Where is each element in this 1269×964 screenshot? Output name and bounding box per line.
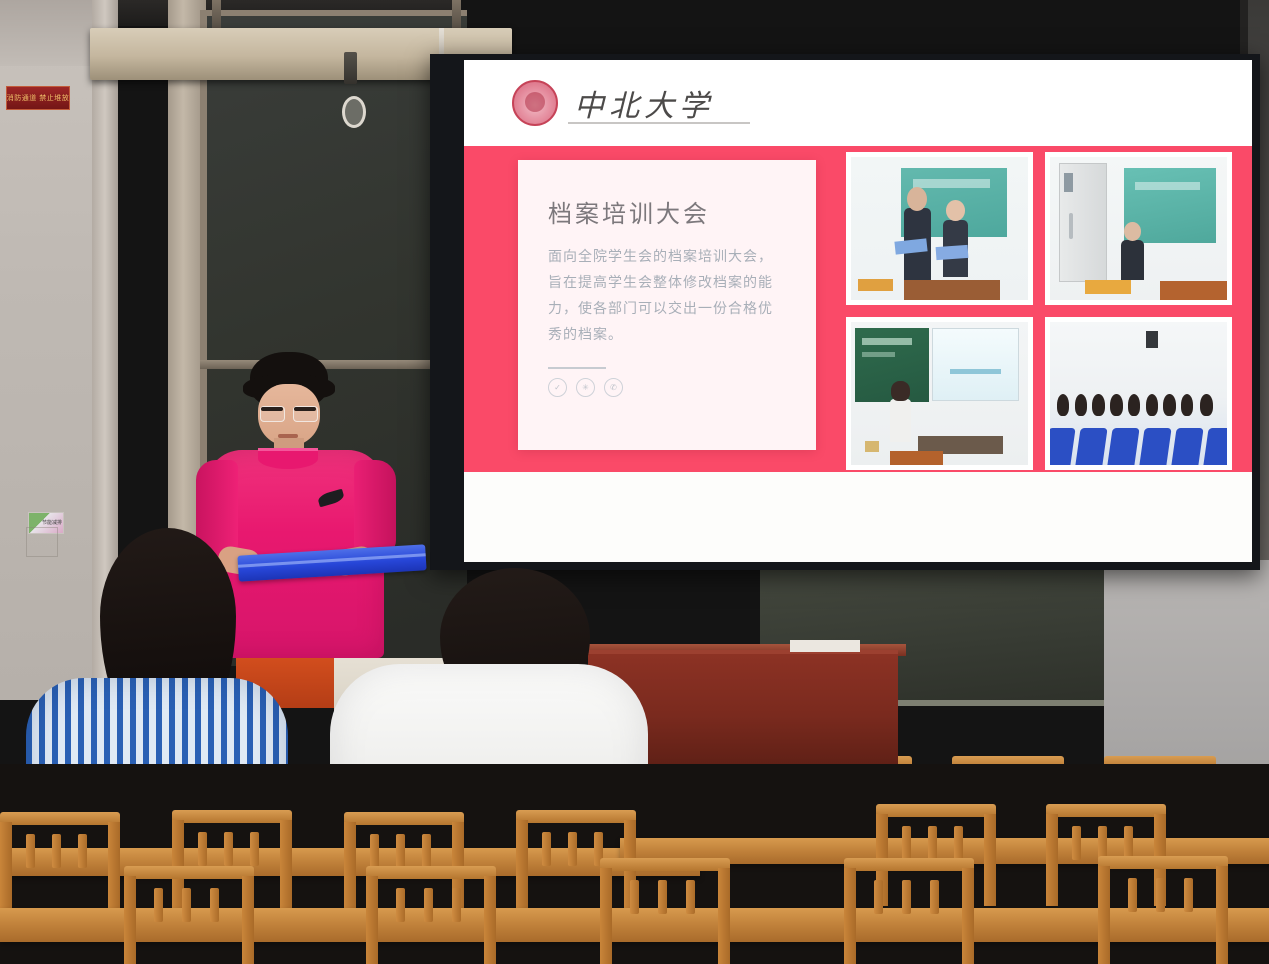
presenter-glasses (260, 406, 318, 421)
photo3-board-text-line1 (862, 338, 913, 345)
weibo-icon: ✳ (576, 378, 595, 397)
wall-sign-red-label: 消防通道 禁止堆放 (7, 93, 69, 103)
social-icon-row: ✓ ✳ ✆ (548, 378, 786, 397)
photo-speaker-at-desk (1045, 152, 1232, 305)
photo1-folder-b (936, 245, 969, 260)
lectern-papers (790, 640, 860, 652)
photo2-red-desk (1160, 281, 1227, 300)
left-wall-upper (0, 0, 92, 66)
screen-pull-loop[interactable] (342, 96, 366, 128)
photo3-podium (890, 451, 943, 465)
photo-two-presenters (846, 152, 1033, 305)
chair-mid-1 (0, 812, 120, 904)
university-name: 中北大学 (574, 81, 714, 125)
projection-screen: 中北大学 档案培训大会 面向全院学生会的档案培训大会，旨在提高学生会整体修改档案… (430, 54, 1260, 570)
photo2-person (1121, 240, 1144, 280)
chair-front-5 (1098, 856, 1228, 964)
qq-icon: ✆ (604, 378, 623, 397)
slide-body-text: 面向全院学生会的档案培训大会，旨在提高学生会整体修改档案的能力，使各部门可以交出… (548, 245, 786, 349)
photo-audience (1045, 317, 1232, 470)
photo4-wall-speaker (1146, 331, 1158, 348)
wechat-icon: ✓ (548, 378, 567, 397)
beam-bracket-left (212, 0, 221, 30)
card-divider (548, 367, 606, 369)
photo1-desk (904, 280, 1000, 300)
photo2-yellow-desk (1085, 280, 1131, 294)
photo3-projection-screen (932, 328, 1019, 402)
slide-text-card: 档案培训大会 面向全院学生会的档案培训大会，旨在提高学生会整体修改档案的能力，使… (518, 160, 816, 450)
photo3-person (890, 399, 911, 442)
presenter-collar (258, 448, 318, 469)
slide-canvas: 中北大学 档案培训大会 面向全院学生会的档案培训大会，旨在提高学生会整体修改档案… (464, 60, 1252, 562)
photo2-door-handle (1069, 213, 1073, 239)
photo4-blue-seats (1050, 405, 1227, 465)
chair-front-2 (366, 866, 496, 964)
photo2-door-window (1064, 173, 1073, 192)
presenter-sleeve-right (354, 460, 396, 558)
photo2-door (1059, 163, 1107, 282)
photo3-board-text-line2 (862, 352, 895, 357)
logo-underline (568, 122, 750, 124)
screen-pull-clip[interactable] (344, 52, 357, 84)
beam-bracket-right (452, 0, 461, 30)
chair-front-1 (124, 866, 254, 964)
university-crest-icon (512, 80, 558, 126)
slide-photo-grid (846, 152, 1232, 470)
classroom-photo-scene: 消防通道 禁止堆放 节能减排 中北大学 档案培训大会 面向全院学生会的档案培训大… (0, 0, 1269, 964)
wall-sign-red: 消防通道 禁止堆放 (6, 86, 70, 110)
photo-lecture-board (846, 317, 1033, 470)
chair-front-3 (600, 858, 730, 964)
photo3-cup (865, 441, 879, 452)
slide-header: 中北大学 (464, 60, 1252, 146)
slide-title: 档案培训大会 (548, 194, 786, 229)
chair-front-4 (844, 858, 974, 964)
photo1-side-desk (858, 279, 893, 292)
